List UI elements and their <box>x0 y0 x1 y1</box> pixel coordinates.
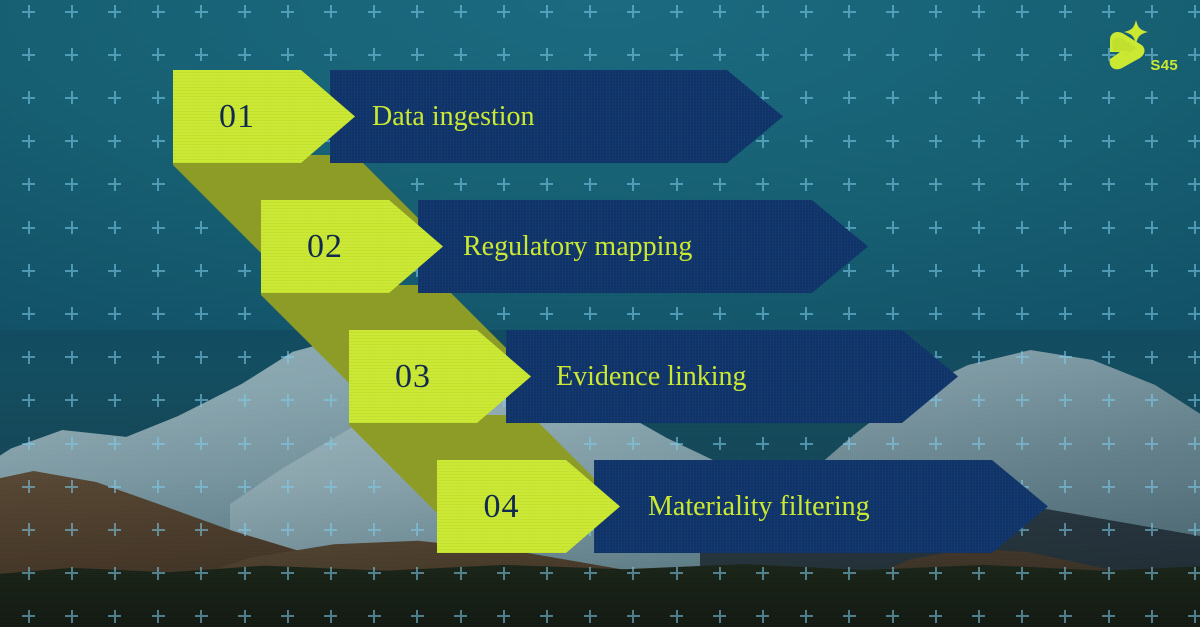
infographic-canvas: Data ingestion 01 Regulatory mapping 02 … <box>0 0 1200 627</box>
step-2-label: Regulatory mapping <box>463 231 692 263</box>
step-4-number: 04 <box>437 488 566 526</box>
step-3-chevron: 03 <box>349 330 531 423</box>
step-4-chevron: 04 <box>437 460 620 553</box>
step-2-bar: Regulatory mapping <box>418 200 868 293</box>
step-1-label: Data ingestion <box>372 101 535 133</box>
step-4-bar: Materiality filtering <box>594 460 1048 553</box>
brand-logo[interactable]: S45 <box>1100 18 1178 74</box>
step-1-bar: Data ingestion <box>330 70 783 163</box>
step-4-label: Materiality filtering <box>648 491 870 523</box>
process-steps: Data ingestion 01 Regulatory mapping 02 … <box>0 0 1200 627</box>
step-3-bar: Evidence linking <box>506 330 958 423</box>
step-2-number: 02 <box>261 228 389 266</box>
step-3-label: Evidence linking <box>556 361 747 393</box>
brand-wordmark: S45 <box>1150 57 1178 74</box>
step-1-chevron: 01 <box>173 70 355 163</box>
step-1-number: 01 <box>173 98 301 136</box>
step-2-chevron: 02 <box>261 200 443 293</box>
step-3-number: 03 <box>349 358 477 396</box>
